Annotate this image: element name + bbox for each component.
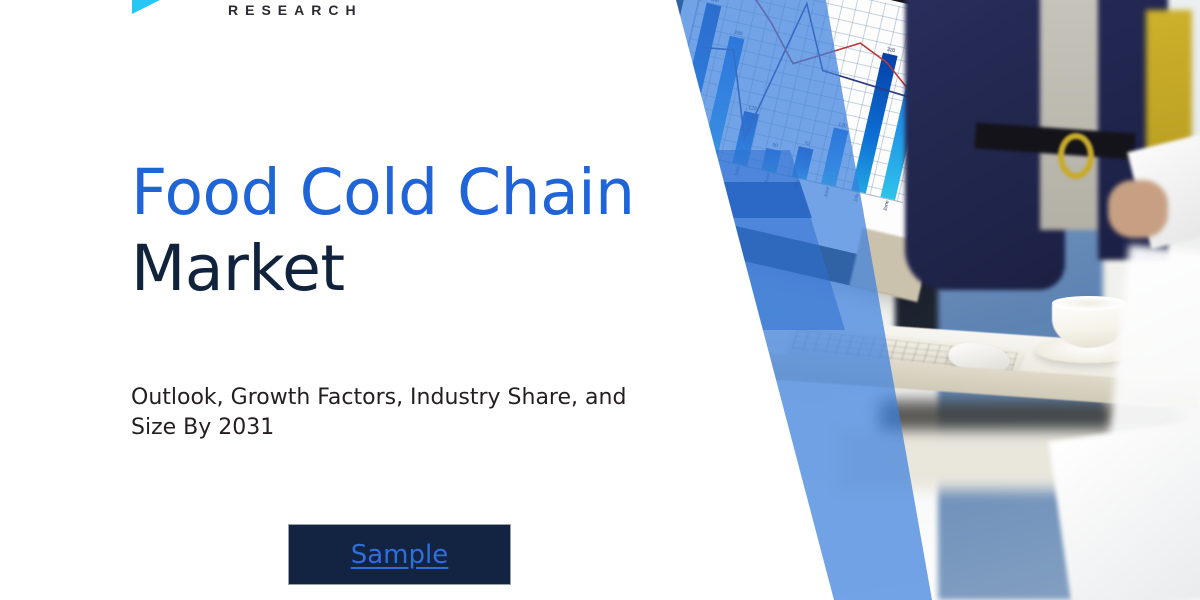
- page-title: Food Cold Chain Market: [131, 155, 671, 307]
- subtitle-line-2: Size By 2031: [131, 415, 274, 440]
- sample-button-label: Sample: [351, 540, 449, 570]
- subtitle-line-1: Outlook, Growth Factors, Industry Share,…: [131, 385, 626, 410]
- title-line-2: Market: [131, 231, 671, 307]
- brand-logo[interactable]: RESEARCH: [0, 0, 480, 30]
- brand-wordmark: RESEARCH: [228, 2, 363, 18]
- page-subtitle: Outlook, Growth Factors, Industry Share,…: [131, 383, 671, 443]
- title-line-1: Food Cold Chain: [131, 155, 671, 231]
- triangle-play-mark-icon: [132, 0, 162, 14]
- banner-content: RESEARCH Food Cold Chain Market Outlook,…: [0, 0, 1200, 600]
- marketing-banner: 340April280June120June50June70Aug130June…: [0, 0, 1200, 600]
- sample-button[interactable]: Sample: [288, 524, 511, 585]
